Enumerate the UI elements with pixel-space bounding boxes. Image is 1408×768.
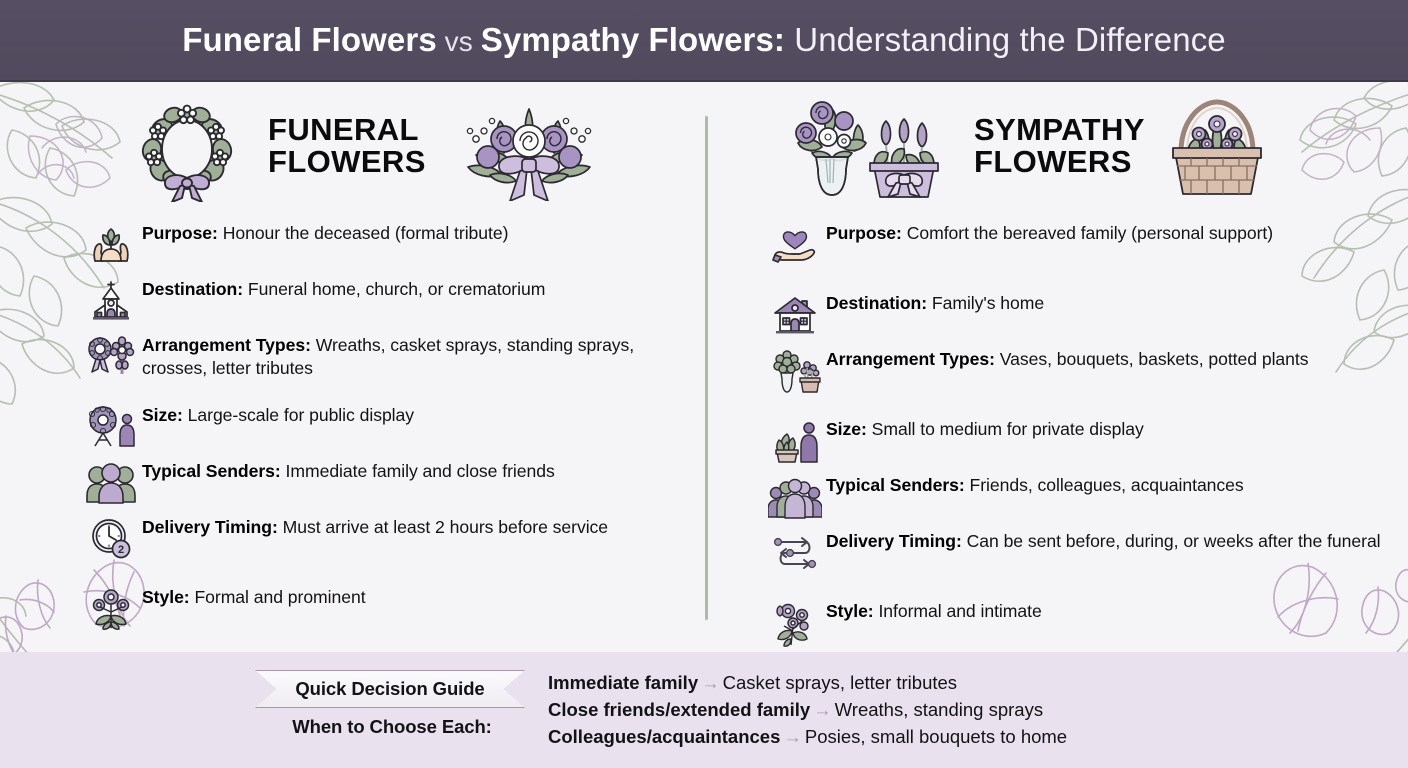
feature-value: Comfort the bereaved family (personal su…: [902, 223, 1273, 243]
feature-text-typical-senders: Typical Senders: Immediate family and cl…: [142, 456, 555, 483]
vase-and-pot-icon: [764, 344, 826, 398]
feature-text-destination: Destination: Funeral home, church, or cr…: [142, 274, 545, 301]
footer-quick-guide: Quick Decision Guide When to Choose Each…: [0, 652, 1408, 768]
standing-wreath-person-icon: [80, 400, 142, 454]
column-sympathy: SYMPATHY FLOWERS: [748, 82, 1388, 652]
feature-value: Informal and intimate: [874, 601, 1042, 621]
column-sympathy-title: SYMPATHY FLOWERS: [974, 114, 1145, 177]
feature-value: Can be sent before, during, or weeks aft…: [962, 531, 1381, 551]
feature-label: Delivery Timing:: [826, 531, 962, 551]
feature-row-style: Style: Formal and prominent: [80, 582, 702, 636]
hand-holding-heart-icon: [764, 218, 826, 272]
infographic-page: Funeral Flowers vs Sympathy Flowers: Und…: [0, 0, 1408, 768]
feature-label: Purpose:: [142, 223, 218, 243]
feature-label: Arrangement Types:: [826, 349, 995, 369]
feature-label: Delivery Timing:: [142, 517, 278, 537]
guide-answer: Casket sprays, letter tributes: [723, 672, 957, 693]
feature-text-style: Style: Formal and prominent: [142, 582, 366, 609]
clock-two-hours-icon: 2: [80, 512, 142, 566]
feature-row-typical-senders: Typical Senders: Friends, colleagues, ac…: [764, 470, 1388, 524]
feature-label: Destination:: [142, 279, 243, 299]
feature-label: Style:: [826, 601, 874, 621]
guide-line-list: Immediate family→Casket sprays, letter t…: [548, 670, 1067, 750]
feature-value: Formal and prominent: [190, 587, 366, 607]
winding-timeline-icon: [764, 526, 826, 580]
feature-text-delivery-timing: Delivery Timing: Can be sent before, dur…: [826, 526, 1381, 553]
feature-label: Destination:: [826, 293, 927, 313]
guide-who: Immediate family: [548, 672, 698, 693]
group-of-people-icon: [80, 456, 142, 510]
page-header: Funeral Flowers vs Sympathy Flowers: Und…: [0, 0, 1408, 82]
guide-who: Close friends/extended family: [548, 699, 810, 720]
column-funeral-title: FUNERAL FLOWERS: [268, 114, 426, 177]
informal-flower-icon: [764, 596, 826, 650]
feature-label: Purpose:: [826, 223, 902, 243]
title-subtitle: Understanding the Difference: [785, 21, 1226, 58]
people-crowd-icon: [764, 470, 826, 524]
feature-row-destination: Destination: Funeral home, church, or cr…: [80, 274, 702, 328]
guide-line: Immediate family→Casket sprays, letter t…: [548, 670, 1067, 697]
feature-text-arrangement-types: Arrangement Types: Vases, bouquets, bask…: [826, 344, 1308, 371]
feature-row-size: Size: Small to medium for private displa…: [764, 414, 1388, 468]
title-funeral: Funeral Flowers: [182, 21, 437, 58]
when-to-choose-label: When to Choose Each:: [277, 716, 507, 738]
feature-value: Must arrive at least 2 hours before serv…: [278, 517, 608, 537]
guide-line: Colleagues/acquaintances→Posies, small b…: [548, 724, 1067, 751]
feature-text-style: Style: Informal and intimate: [826, 596, 1042, 623]
title-vs: vs: [437, 26, 481, 57]
feature-label: Typical Senders:: [826, 475, 965, 495]
guide-line: Close friends/extended family→Wreaths, s…: [548, 697, 1067, 724]
funeral-spray-icon: [450, 91, 608, 201]
funeral-feature-list: Purpose: Honour the deceased (formal tri…: [62, 218, 702, 636]
guide-answer: Wreaths, standing sprays: [835, 699, 1043, 720]
feature-value: Small to medium for private display: [867, 419, 1144, 439]
sympathy-feature-list: Purpose: Comfort the bereaved family (pe…: [748, 218, 1388, 650]
feature-text-purpose: Purpose: Honour the deceased (formal tri…: [142, 218, 508, 245]
quick-decision-ribbon: Quick Decision Guide: [255, 670, 525, 708]
column-sympathy-header: SYMPATHY FLOWERS: [748, 82, 1388, 210]
arrow-icon: →: [780, 726, 805, 747]
potted-plant-person-icon: [764, 414, 826, 468]
feature-label: Arrangement Types:: [142, 335, 311, 355]
feature-text-size: Size: Small to medium for private displa…: [826, 414, 1144, 441]
feature-row-destination: Destination: Family's home: [764, 288, 1388, 342]
arrow-icon: →: [698, 672, 723, 693]
feature-label: Style:: [142, 587, 190, 607]
feature-row-purpose: Purpose: Comfort the bereaved family (pe…: [764, 218, 1388, 286]
comparison-body: FUNERAL FLOWERS: [0, 82, 1408, 652]
feature-label: Size:: [826, 419, 867, 439]
feature-value: Friends, colleagues, acquaintances: [965, 475, 1244, 495]
feature-row-size: Size: Large-scale for public display: [80, 400, 702, 454]
feature-label: Size:: [142, 405, 183, 425]
page-title: Funeral Flowers vs Sympathy Flowers: Und…: [182, 21, 1226, 59]
column-funeral-header: FUNERAL FLOWERS: [62, 82, 702, 210]
column-divider: [705, 116, 708, 620]
feature-value: Honour the deceased (formal tribute): [218, 223, 509, 243]
feature-value: Family's home: [927, 293, 1044, 313]
guide-answer: Posies, small bouquets to home: [805, 726, 1067, 747]
feature-text-destination: Destination: Family's home: [826, 288, 1044, 315]
guide-who: Colleagues/acquaintances: [548, 726, 780, 747]
feature-value: Funeral home, church, or crematorium: [243, 279, 545, 299]
quick-decision-label: Quick Decision Guide: [295, 678, 484, 700]
vase-and-potted-plant-icon: [776, 87, 954, 205]
feature-value: Large-scale for public display: [183, 405, 414, 425]
house-icon: [764, 288, 826, 342]
feature-label: Typical Senders:: [142, 461, 281, 481]
feature-row-arrangement-types: Arrangement Types: Wreaths, casket spray…: [80, 330, 702, 398]
hands-holding-plant-icon: [80, 218, 142, 272]
feature-value: Vases, bouquets, baskets, potted plants: [995, 349, 1309, 369]
feature-text-size: Size: Large-scale for public display: [142, 400, 414, 427]
feature-text-purpose: Purpose: Comfort the bereaved family (pe…: [826, 218, 1273, 245]
feature-text-delivery-timing: Delivery Timing: Must arrive at least 2 …: [142, 512, 608, 539]
feature-row-delivery-timing: 2 Delivery Timing: Must arrive at least …: [80, 512, 702, 580]
feature-row-style: Style: Informal and intimate: [764, 596, 1388, 650]
feature-row-purpose: Purpose: Honour the deceased (formal tri…: [80, 218, 702, 272]
feature-text-typical-senders: Typical Senders: Friends, colleagues, ac…: [826, 470, 1244, 497]
svg-text:2: 2: [118, 544, 124, 556]
feature-row-delivery-timing: Delivery Timing: Can be sent before, dur…: [764, 526, 1388, 594]
church-icon: [80, 274, 142, 328]
flower-basket-icon: [1161, 90, 1273, 202]
feature-row-arrangement-types: Arrangement Types: Vases, bouquets, bask…: [764, 344, 1388, 412]
feature-value: Immediate family and close friends: [281, 461, 555, 481]
feature-text-arrangement-types: Arrangement Types: Wreaths, casket spray…: [142, 330, 702, 380]
column-funeral: FUNERAL FLOWERS: [62, 82, 702, 638]
wreath-and-cross-icon: [80, 330, 142, 384]
arrow-icon: →: [810, 699, 835, 720]
title-sympathy: Sympathy Flowers:: [481, 21, 785, 58]
feature-row-typical-senders: Typical Senders: Immediate family and cl…: [80, 456, 702, 510]
formal-flower-icon: [80, 582, 142, 636]
wreath-icon: [128, 90, 246, 202]
